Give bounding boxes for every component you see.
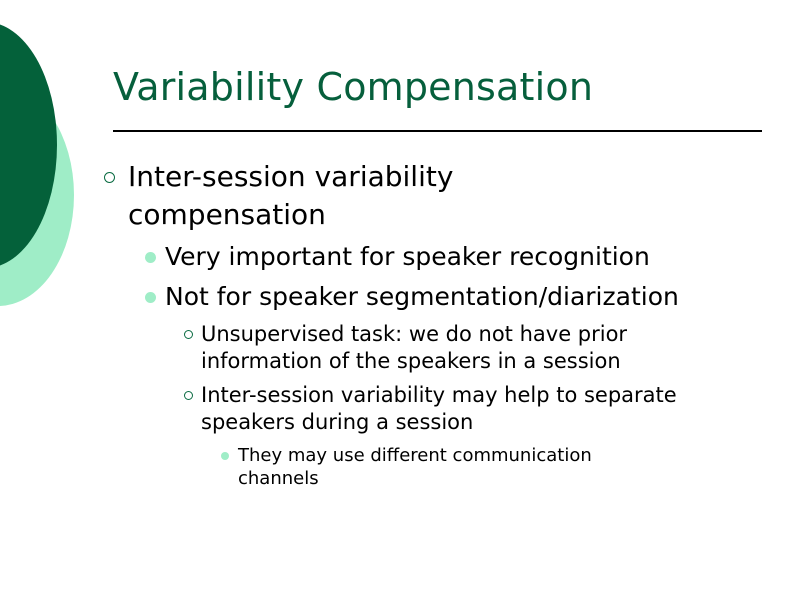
slide-body-outline: Inter-session variability compensation V… [0,158,800,490]
hollow-circle-small-bullet-icon [184,330,193,339]
outline-item-text: They may use different communication cha… [238,444,678,490]
outline-item-text: Unsupervised task: we do not have prior … [201,321,721,375]
outline-item-text: Very important for speaker recognition [165,240,800,274]
outline-item-text: Not for speaker segmentation/diarization [165,280,800,314]
filled-disc-small-bullet-icon [221,452,229,460]
outline-item-level3: Unsupervised task: we do not have prior … [183,321,800,375]
outline-item-level2: Not for speaker segmentation/diarization [143,280,800,314]
outline-item-text: Inter-session variability compensation [128,158,548,234]
outline-item-level1: Inter-session variability compensation [102,158,800,234]
slide: Variability Compensation Inter-session v… [0,0,800,599]
page-title: Variability Compensation [113,64,763,110]
filled-disc-bullet-icon [145,252,156,263]
outline-item-level4: They may use different communication cha… [219,444,800,490]
hollow-circle-bullet-icon [104,172,115,183]
title-underline-rule [113,130,762,132]
outline-item-level2: Very important for speaker recognition [143,240,800,274]
outline-item-text: Inter-session variability may help to se… [201,382,721,436]
filled-disc-bullet-icon [145,292,156,303]
outline-item-level3: Inter-session variability may help to se… [183,382,800,436]
hollow-circle-small-bullet-icon [184,391,193,400]
